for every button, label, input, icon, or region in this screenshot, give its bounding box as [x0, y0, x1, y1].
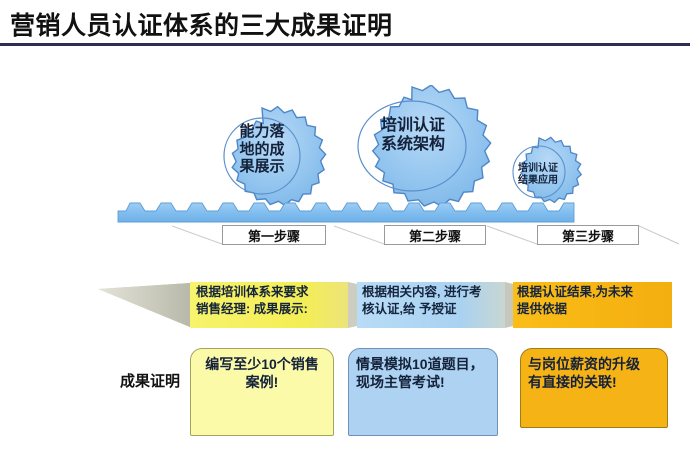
step-tick-4	[639, 225, 689, 245]
step-label-1[interactable]: 第一步骤	[222, 225, 326, 245]
gear-graphic	[0, 85, 690, 230]
conveyor-rack	[118, 203, 574, 222]
step-label-3[interactable]: 第三步骤	[537, 225, 639, 245]
step-label-2[interactable]: 第二步骤	[384, 225, 486, 245]
gear-diagram: 能力落 地的成 果展示 培训认证 系统架构 培训认证 结果应用	[0, 85, 690, 230]
process-band-row: 根据培训体系来要求 销售经理: 成果展示: 根据相关内容, 进行考 核认证,给 …	[0, 275, 690, 335]
step-tick-1	[172, 225, 222, 245]
gear-application-shape	[513, 137, 581, 202]
outcome-box-3[interactable]: 与岗位薪资的升级 有直接的关联!	[520, 348, 668, 428]
gear-system-shape	[358, 85, 491, 206]
step-label-row: 第一步骤 第二步骤 第三步骤	[0, 225, 690, 249]
title-divider	[0, 43, 690, 46]
slide-canvas: 营销人员认证体系的三大成果证明	[0, 0, 690, 456]
outcome-box-1[interactable]: 编写至少10个销售 案例!	[190, 348, 334, 436]
step-tick-3	[487, 225, 537, 245]
process-band-graphic	[0, 275, 690, 335]
step-tick-2	[334, 225, 384, 245]
outcome-row-label: 成果证明	[110, 370, 190, 391]
gear-capability-shape	[224, 107, 326, 206]
page-title: 营销人员认证体系的三大成果证明	[10, 6, 393, 42]
outcome-box-2[interactable]: 情景模拟10道题目， 现场主管考试!	[348, 348, 498, 436]
